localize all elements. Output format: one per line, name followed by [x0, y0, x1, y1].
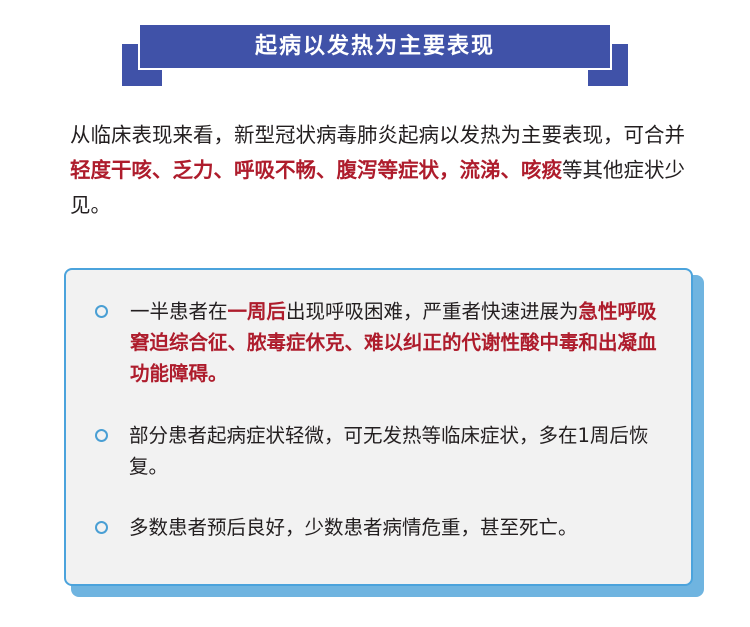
bullet-circle-icon [95, 305, 108, 318]
banner: 起病以发热为主要表现 [0, 0, 750, 108]
item-0-plain-2: 出现呼吸困难，严重者快速进展为 [286, 300, 579, 323]
list-item: 一半患者在一周后出现呼吸困难，严重者快速进展为急性呼吸窘迫综合征、脓毒症休克、难… [88, 296, 671, 389]
list-item: 多数患者预后良好，少数患者病情危重，甚至死亡。 [88, 512, 671, 543]
intro-text-highlight: 轻度干咳、乏力、呼吸不畅、腹泻等症状，流涕、咳痰 [70, 158, 562, 182]
item-2-plain-1: 多数患者预后良好，少数患者病情危重，甚至死亡。 [129, 516, 578, 539]
bullet-circle-icon [95, 521, 108, 534]
item-0-plain-1: 一半患者在 [130, 300, 228, 323]
intro-paragraph: 从临床表现来看，新型冠状病毒肺炎起病以发热为主要表现，可合并轻度干咳、乏力、呼吸… [70, 118, 690, 223]
list-item-text: 一半患者在一周后出现呼吸困难，严重者快速进展为急性呼吸窘迫综合征、脓毒症休克、难… [129, 296, 671, 389]
callout-box: 一半患者在一周后出现呼吸困难，严重者快速进展为急性呼吸窘迫综合征、脓毒症休克、难… [64, 268, 693, 586]
item-1-plain-1: 部分患者起病症状轻微，可无发热等临床症状，多在1周后恢复。 [129, 424, 648, 478]
callout-list: 一半患者在一周后出现呼吸困难，严重者快速进展为急性呼吸窘迫综合征、脓毒症休克、难… [66, 270, 691, 543]
list-item: 部分患者起病症状轻微，可无发热等临床症状，多在1周后恢复。 [88, 420, 671, 482]
banner-bar: 起病以发热为主要表现 [140, 25, 610, 68]
bullet-circle-icon [95, 429, 108, 442]
item-0-highlight: 一周后 [228, 300, 287, 323]
list-item-text: 部分患者起病症状轻微，可无发热等临床症状，多在1周后恢复。 [129, 420, 671, 482]
intro-text-plain-1: 从临床表现来看，新型冠状病毒肺炎起病以发热为主要表现，可合并 [70, 123, 685, 147]
list-item-text: 多数患者预后良好，少数患者病情危重，甚至死亡。 [129, 512, 671, 543]
page-title: 起病以发热为主要表现 [255, 36, 495, 58]
